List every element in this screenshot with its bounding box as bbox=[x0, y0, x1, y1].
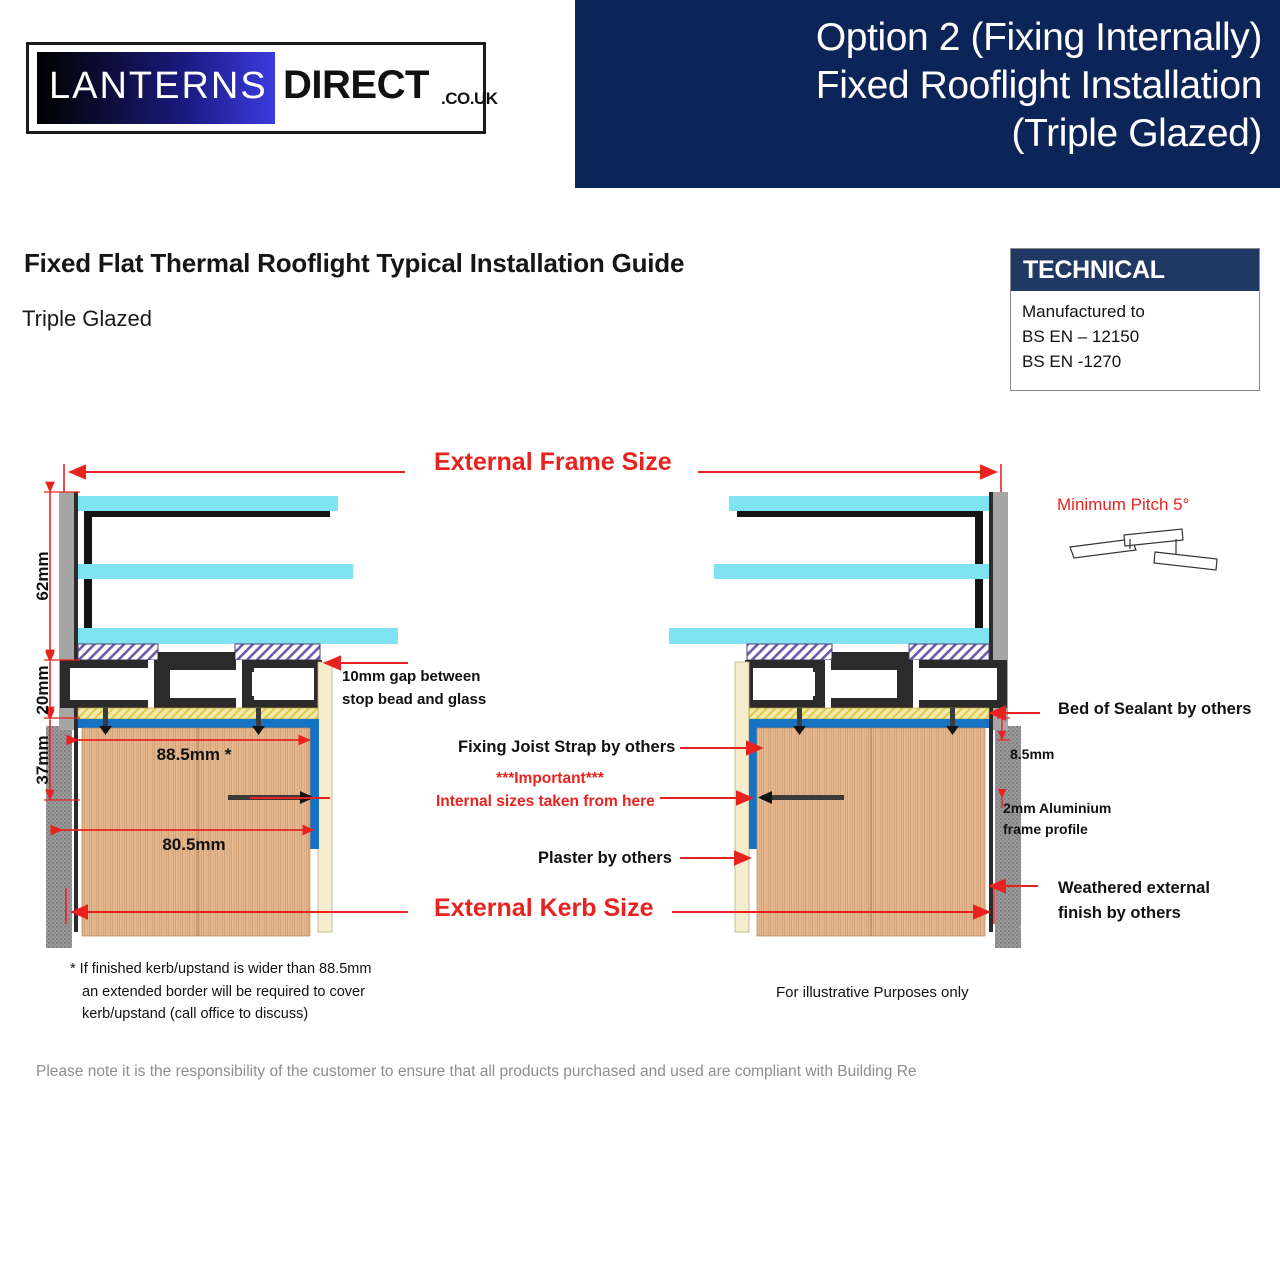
left-cross-section: 62mm 20mm 37mm 88.5mm * 80.5mm bbox=[33, 492, 398, 948]
minimum-pitch-schematic bbox=[1060, 525, 1230, 575]
page-title: Fixed Flat Thermal Rooflight Typical Ins… bbox=[24, 248, 684, 279]
callout-weathered-external-finish: Weathered external finish by others bbox=[1058, 876, 1210, 926]
header-title-line-1: Option 2 (Fixing Internally) bbox=[575, 14, 1262, 62]
kerb-note-line-3: kerb/upstand (call office to discuss) bbox=[70, 1003, 371, 1026]
technical-line-2: BS EN – 12150 bbox=[1022, 324, 1259, 349]
kerb-note-line-1: * If finished kerb/upstand is wider than… bbox=[70, 958, 371, 981]
callout-internal-sizes: Internal sizes taken from here bbox=[436, 793, 655, 811]
header-title-line-2: Fixed Rooflight Installation bbox=[575, 62, 1262, 110]
logo-secondary-text: DIRECT bbox=[283, 63, 429, 108]
aluminium-frame-profile-left bbox=[60, 660, 322, 708]
company-logo: LANTERNS DIRECT .CO.UK bbox=[26, 42, 486, 134]
technical-heading: TECHNICAL bbox=[1011, 249, 1259, 291]
logo-primary-text: LANTERNS bbox=[49, 65, 268, 108]
dim-20mm: 20mm bbox=[33, 665, 52, 714]
page-subtitle: Triple Glazed bbox=[22, 306, 152, 332]
dim-62mm: 62mm bbox=[33, 551, 52, 600]
kerb-note-line-2: an extended border will be required to c… bbox=[70, 981, 371, 1004]
callout-bed-of-sealant: Bed of Sealant by others bbox=[1058, 700, 1251, 719]
callout-10mm-gap: 10mm gap between stop bead and glass bbox=[342, 665, 486, 711]
logo-tld-text: .CO.UK bbox=[441, 89, 498, 109]
technical-box: TECHNICAL Manufactured to BS EN – 12150 … bbox=[1010, 248, 1260, 391]
callout-2mm-aluminium-frame: 2mm Aluminium frame profile bbox=[1003, 798, 1111, 840]
illustrative-purposes-note: For illustrative Purposes only bbox=[776, 984, 969, 1001]
technical-line-3: BS EN -1270 bbox=[1022, 349, 1259, 374]
diagram-title-external-kerb-size: External Kerb Size bbox=[434, 894, 654, 923]
callout-important: ***Important*** bbox=[440, 770, 660, 788]
technical-line-1: Manufactured to bbox=[1022, 299, 1259, 324]
disclaimer-note: Please note it is the responsibility of … bbox=[36, 1063, 917, 1081]
dim-80-5mm: 80.5mm bbox=[162, 835, 225, 854]
header-banner: Option 2 (Fixing Internally) Fixed Roofl… bbox=[575, 0, 1280, 188]
minimum-pitch-label: Minimum Pitch 5° bbox=[1057, 495, 1189, 515]
aluminium-frame-profile-right bbox=[745, 660, 1007, 708]
diagram-title-external-frame-size: External Frame Size bbox=[434, 448, 672, 477]
callout-8-5mm: 8.5mm bbox=[1010, 746, 1054, 762]
dim-88-5mm: 88.5mm * bbox=[157, 745, 232, 764]
right-cross-section bbox=[669, 492, 1021, 948]
dim-37mm: 37mm bbox=[33, 735, 52, 784]
callout-fixing-joist-strap: Fixing Joist Strap by others bbox=[458, 738, 675, 757]
kerb-width-note: * If finished kerb/upstand is wider than… bbox=[70, 958, 371, 1026]
technical-body: Manufactured to BS EN – 12150 BS EN -127… bbox=[1011, 291, 1259, 374]
callout-plaster-by-others: Plaster by others bbox=[538, 849, 672, 868]
header-title-line-3: (Triple Glazed) bbox=[575, 110, 1262, 158]
